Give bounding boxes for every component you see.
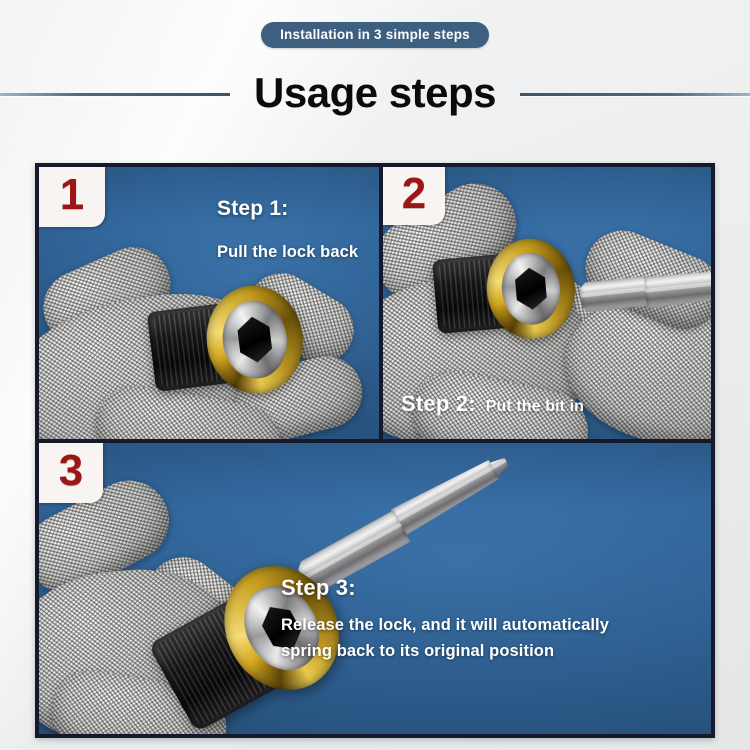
page-title: Usage steps: [232, 72, 518, 114]
step-number: 1: [60, 173, 84, 217]
step-panel-3: 3 Step 3: Release the lock, and it will …: [39, 443, 715, 738]
bit-holder-tool: [145, 280, 309, 406]
title-row: Usage steps: [0, 62, 750, 124]
step-number-badge-1: 1: [39, 167, 105, 227]
installation-badge: Installation in 3 simple steps: [261, 22, 489, 48]
tool-steel-ring: [499, 250, 563, 327]
step-number: 2: [402, 172, 426, 216]
title-rule-left: [0, 93, 230, 96]
step-title: Step 2:: [401, 391, 476, 417]
hex-socket-icon: [514, 267, 548, 311]
step-number: 3: [59, 449, 83, 493]
step-panel-2: 2 Step 2: Put the bit in: [383, 167, 715, 439]
step-number-badge-3: 3: [39, 443, 103, 503]
step-description-line-1: Release the lock, and it will automatica…: [281, 613, 609, 639]
step-description: Pull the lock back: [217, 243, 358, 262]
step-title: Step 1:: [217, 197, 358, 221]
badge-row: Installation in 3 simple steps: [0, 0, 750, 48]
step-description: Put the bit in: [486, 398, 584, 416]
hex-socket-icon: [236, 315, 273, 365]
step-title: Step 3:: [281, 575, 609, 601]
tool-steel-ring: [218, 297, 291, 382]
title-rule-right: [520, 93, 750, 96]
bit-holder-tool: [431, 235, 579, 347]
step-description-line-2: spring back to its original position: [281, 639, 609, 665]
step-number-badge-2: 2: [383, 167, 445, 225]
step-caption-3: Step 3: Release the lock, and it will au…: [281, 575, 609, 664]
steps-grid: 1 Step 1: Pull the lock back 2: [35, 163, 715, 738]
step-caption-2: Step 2: Put the bit in: [401, 391, 584, 417]
page-header: Installation in 3 simple steps Usage ste…: [0, 0, 750, 124]
step-panel-1: 1 Step 1: Pull the lock back: [39, 167, 379, 439]
step-caption-1: Step 1: Pull the lock back: [217, 197, 358, 262]
